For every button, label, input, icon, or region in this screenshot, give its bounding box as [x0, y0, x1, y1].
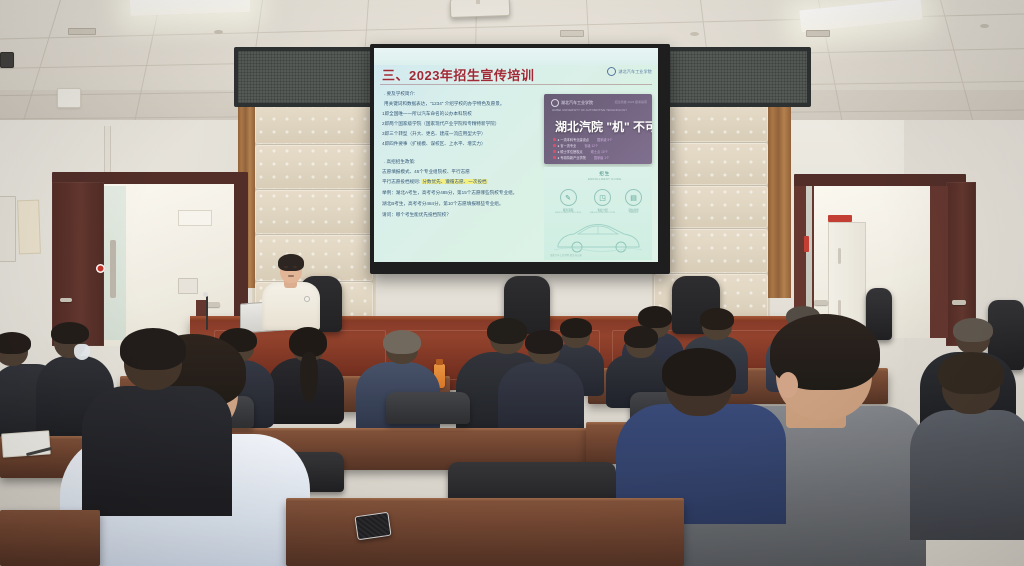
wall-junction-box	[57, 88, 81, 108]
smartphone-on-desk[interactable]	[354, 512, 391, 540]
left-door-red-sticker-icon	[96, 264, 105, 273]
hair	[624, 326, 658, 348]
car-outline-illustration	[552, 219, 644, 253]
chart-icon: ▤	[625, 189, 642, 206]
card-stat-value: 国家级 5个	[597, 137, 612, 142]
left-door-leaf[interactable]	[52, 182, 104, 346]
acoustic-panel	[255, 145, 373, 189]
cabinet-handle-bottom	[838, 300, 841, 316]
card-stat-value: 省级 12个	[584, 143, 598, 148]
lower-panel-icon-3: ▤ 就业前景 CAREER	[625, 189, 642, 214]
card-stat-row: ● 省一流专业 省级 12个	[553, 143, 598, 148]
bullet-dot-icon	[553, 138, 556, 141]
slide-bullet: 志愿填报模式、45个专业组院校、平行志愿	[382, 170, 470, 175]
bottle-cap	[436, 359, 443, 365]
card-stat-label: ● 省一流专业	[558, 143, 577, 148]
icon-caption-en: ENROLLMENT PROCESS	[555, 212, 581, 214]
slide-bullet: 4即四件要事（扩规模、谋校区、上水平、增实力）	[382, 142, 486, 147]
slide-bullet: 1即全国唯一一所以汽车命名的公办本科院校	[382, 112, 472, 117]
hair	[383, 330, 421, 354]
card-stat-row: ● 一流本科专业建设点 国家级 5个	[553, 137, 612, 142]
right-door-jamb-right	[930, 186, 948, 338]
slide-title-underline	[380, 84, 652, 85]
slide-bullet: 举例：湖北A考生，高考考分485分，第15个志愿哪些院校专业组。	[382, 191, 517, 196]
card-corner-text: 招生简章 2023 报考指南	[615, 100, 647, 104]
slide-bullet: . 高招招生政策:	[384, 160, 415, 165]
bullet-dot-icon	[553, 144, 556, 147]
lower-panel-icon-1: ✎ 报考流程 ENROLLMENT PROCESS	[555, 189, 581, 214]
slide-bullet-label: 平行志愿投档规则:	[382, 179, 420, 184]
speaker-mouth	[288, 275, 294, 277]
projector-mount-arm	[476, 0, 480, 4]
lower-panel-footer: 湖北汽车工业学院 招生办公室	[550, 253, 582, 257]
desk-foreground-left	[0, 510, 100, 566]
ear	[778, 372, 798, 398]
card-logo-text: 湖北汽车工业学院	[561, 100, 593, 106]
slide-bullet: 用关键词和数据表达，"1234" 介绍学校的办学特色及愿景。	[384, 102, 504, 107]
wood-column-right	[768, 98, 791, 298]
slide-title: 三、2023年招生宣传培训	[382, 65, 534, 84]
ponytail	[300, 352, 318, 402]
torso	[910, 410, 1024, 540]
slide-bullet: 3即三个转型（升大、更名、建成一流应用型大学）	[382, 132, 486, 137]
wall-speaker-grille-left	[234, 47, 384, 107]
speaker-torso	[262, 282, 320, 330]
left-door-interior-switch[interactable]	[178, 278, 198, 294]
acoustic-panel	[654, 229, 768, 273]
hair	[0, 332, 31, 354]
hair	[560, 318, 592, 338]
lower-panel-heading-en: ENROLLMENT GUIDE	[588, 177, 622, 181]
card-stat-label: ● 一流本科专业建设点	[558, 137, 590, 142]
card-stat-value: 硕士点 10个	[591, 149, 608, 154]
podium-microphone-head	[203, 292, 208, 297]
card-stat-label: ● 硕士学位授权点	[558, 149, 583, 154]
right-door-handle[interactable]	[952, 300, 966, 305]
projection-screen: 三、2023年招生宣传培训 湖北汽车工业学院 . 要及学校简介: 用关键词和数据…	[370, 44, 670, 274]
speaker-hair	[278, 254, 304, 271]
hair	[525, 330, 563, 354]
slide-bullet: 湖北B考生，高考考分484分，第10个志愿填报哪些专业组。	[382, 202, 504, 207]
hair	[487, 318, 527, 344]
university-logo-icon	[551, 99, 559, 107]
bullet-dot-icon	[553, 156, 556, 159]
wall-speaker-box	[0, 52, 14, 68]
torso	[82, 386, 232, 516]
slide-content: 三、2023年招生宣传培训 湖北汽车工业学院 . 要及学校简介: 用关键词和数据…	[374, 48, 658, 262]
smoke-detector-right	[690, 32, 699, 36]
card-stat-row: ● 专精特新产业学院 国家级 1个	[553, 155, 609, 160]
cabinet-red-top-item	[828, 215, 852, 222]
wall-notice-poster	[17, 200, 41, 255]
hair	[700, 308, 734, 330]
slide-highlight-text: 分数优先、遵循志愿、一次投档	[421, 179, 487, 184]
desk-edge	[286, 498, 684, 502]
wall-speaker-grille-right	[663, 47, 811, 107]
speaker-eye-left	[284, 266, 288, 268]
right-door-inner-handle[interactable]	[814, 300, 828, 305]
ceiling-vent-right	[806, 30, 830, 37]
slide-promo-card: 湖北汽车工业学院 HUBEI UNIVERSITY OF AUTOMOTIVE …	[544, 94, 652, 164]
left-door-handle[interactable]	[60, 298, 72, 302]
acoustic-panel	[654, 143, 768, 185]
icon-caption-en: MAJOR INTRODUCTION	[590, 212, 615, 214]
wall-plate-left	[0, 196, 16, 262]
speaker-eye-right	[293, 266, 297, 268]
card-subtitle: HUBEI UNIVERSITY OF AUTOMOTIVE TECHNOLOG…	[552, 108, 627, 112]
card-stat-value: 国家级 1个	[594, 155, 609, 160]
card-logo: 湖北汽车工业学院	[551, 99, 593, 107]
slide-bullet: . 要及学校简介:	[384, 92, 415, 97]
slide-bullet-highlighted: 平行志愿投档规则: 分数优先、遵循志愿、一次投档	[382, 180, 488, 185]
speaker-lapel-badge	[304, 296, 310, 302]
desk-edge	[182, 428, 602, 432]
slide-header-band	[374, 48, 658, 65]
left-door-room-sign	[178, 210, 212, 226]
conference-room-photo: 三、2023年招生宣传培训 湖北汽车工业学院 . 要及学校简介: 用关键词和数据…	[0, 0, 1024, 566]
face-mask	[74, 344, 90, 360]
desk-foreground	[286, 500, 684, 566]
ceiling-projector	[450, 0, 511, 18]
slide-lower-panel: 招生 ENROLLMENT GUIDE ✎ 报考流程 ENROLLMENT PR…	[544, 167, 652, 260]
cabinet-handle-top	[838, 248, 841, 264]
hair	[638, 306, 672, 328]
lower-panel-icon-2: ◳ 专业介绍 MAJOR INTRODUCTION	[590, 189, 615, 214]
bullet-dot-icon	[553, 150, 556, 153]
slide-logo-text: 湖北汽车工业学院	[618, 69, 652, 75]
card-headline: 湖北汽院 "机" 不可失	[555, 118, 652, 135]
podium-microphone-stand	[206, 296, 208, 330]
acoustic-panel	[654, 186, 768, 228]
hair	[120, 328, 186, 370]
slide-logo: 湖北汽车工业学院	[607, 67, 652, 76]
audience-chair	[386, 392, 470, 424]
icon-caption-en: CAREER	[629, 212, 638, 214]
acoustic-panel	[255, 235, 373, 281]
card-stat-label: ● 专精特新产业学院	[558, 155, 586, 160]
slide-bullet: 请问：哪个考生能优先投档院校？	[382, 213, 451, 218]
lower-panel-heading: 招生 ENROLLMENT GUIDE	[588, 171, 622, 181]
smoke-detector-far-right	[980, 24, 989, 28]
ceiling-vent-mid	[560, 30, 584, 37]
ceiling-vent-left	[68, 28, 96, 35]
university-logo-icon	[607, 67, 616, 76]
document-icon: ◳	[594, 189, 611, 206]
acoustic-panel	[255, 190, 373, 234]
hair	[662, 348, 736, 396]
hair	[953, 318, 993, 342]
slide-bullet: 2即两个国家级学院（国家现代产业学院和专精特新学院）	[382, 122, 499, 127]
smoke-detector-left	[214, 30, 223, 34]
hair	[938, 352, 1004, 394]
right-door-red-marker-icon	[804, 236, 809, 252]
pencil-icon: ✎	[560, 189, 577, 206]
card-stat-row: ● 硕士学位授权点 硕士点 10个	[553, 149, 608, 154]
left-door-push-bar[interactable]	[110, 240, 116, 298]
hair	[51, 322, 89, 344]
